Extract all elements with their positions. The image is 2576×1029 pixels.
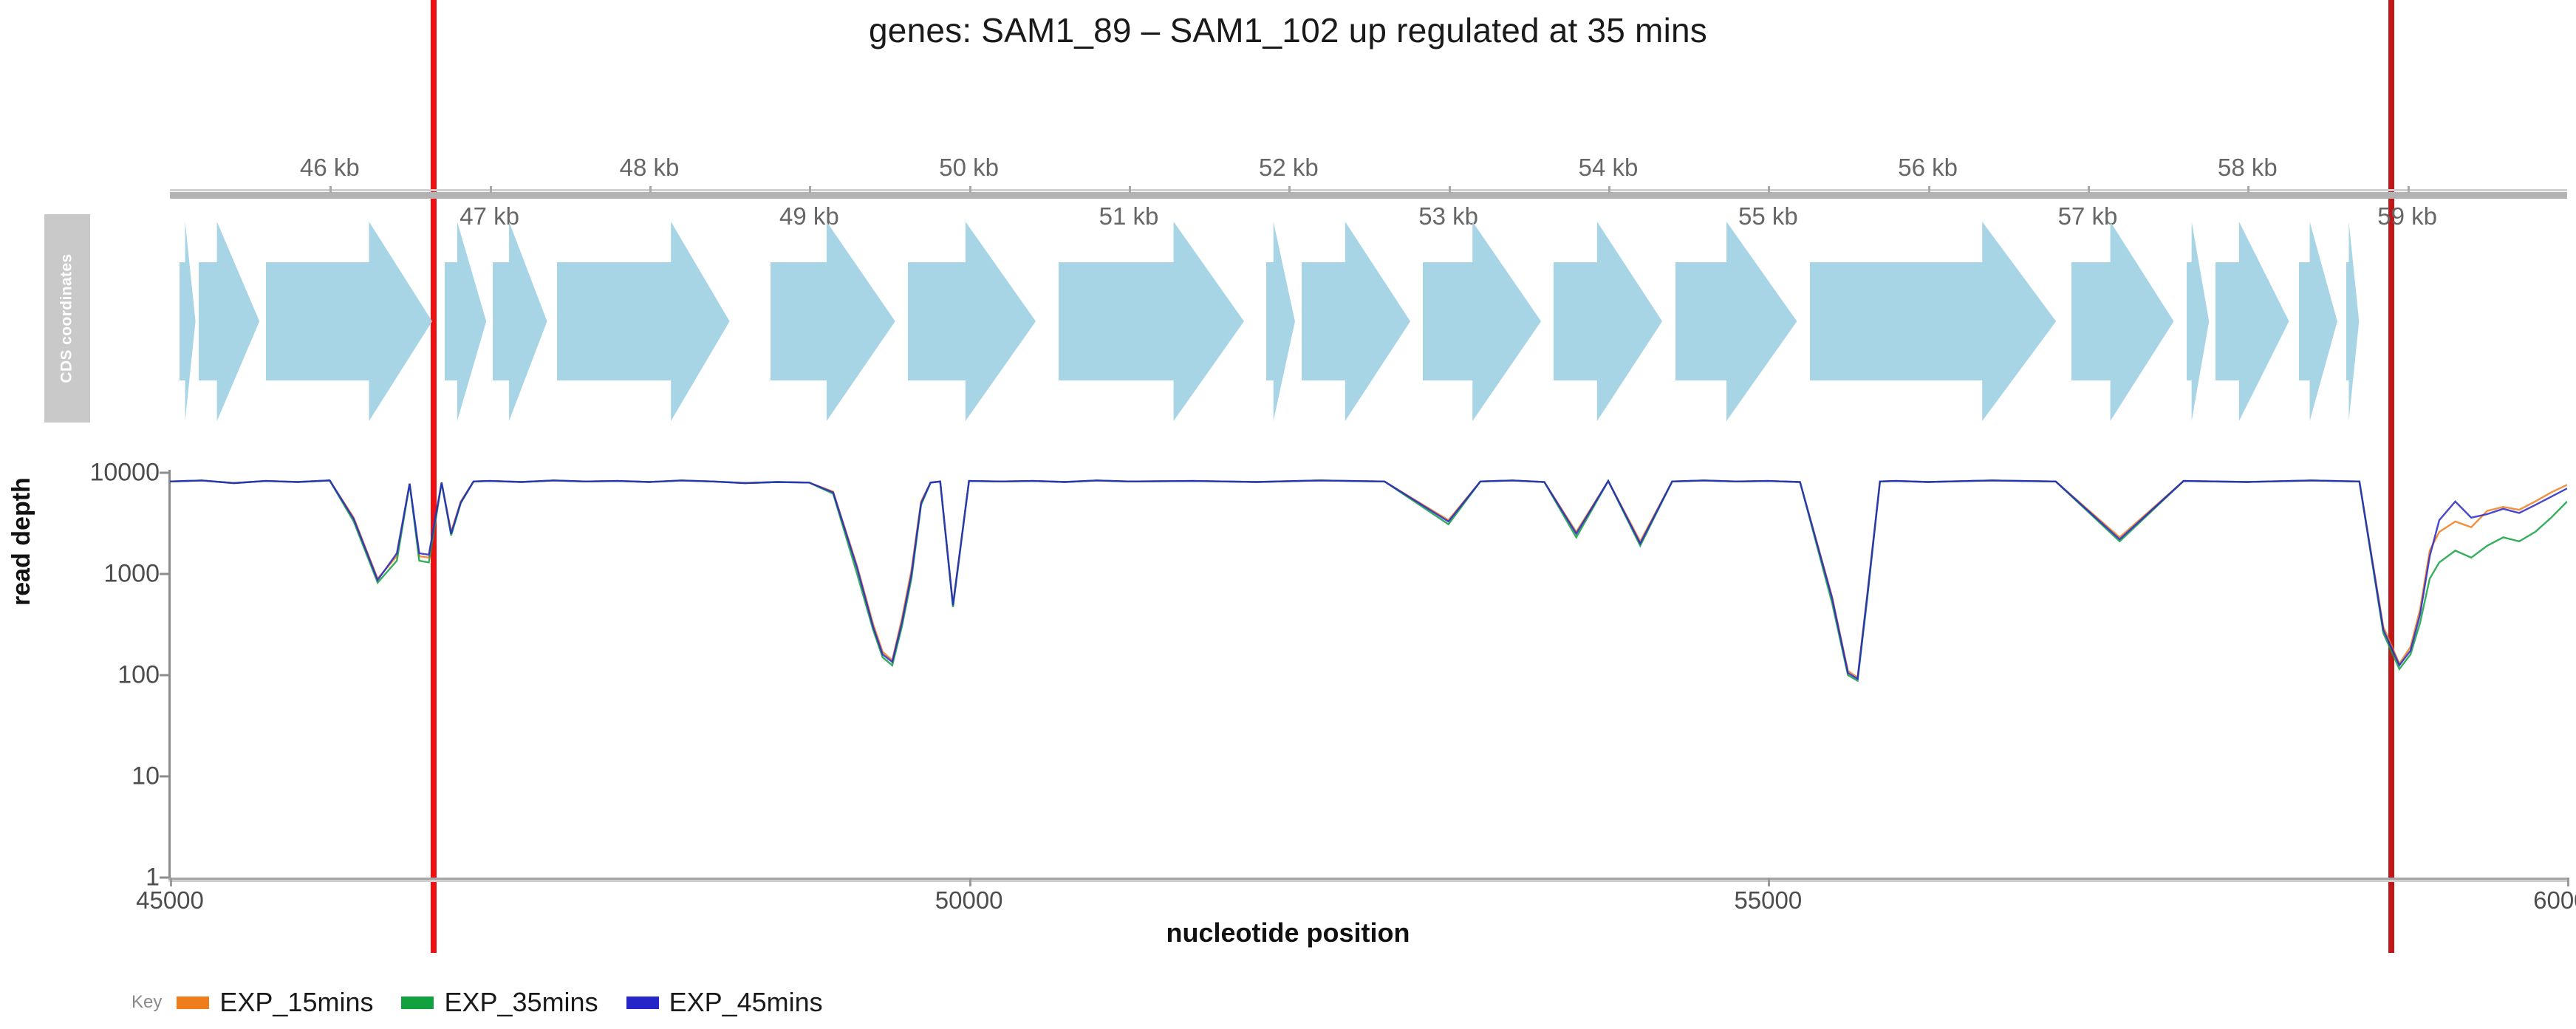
gene-arrow	[445, 222, 486, 421]
legend: Key EXP_15minsEXP_35minsEXP_45mins	[131, 987, 841, 1018]
ruler-tick	[1768, 186, 1770, 193]
ruler-label-50kb: 50 kb	[939, 154, 999, 182]
ruler-label-58kb: 58 kb	[2218, 154, 2278, 182]
x-tick-label: 50000	[935, 886, 1003, 915]
ruler-tick	[1288, 186, 1291, 193]
gene-arrow	[1423, 222, 1541, 421]
y-tick-label: 100	[117, 661, 160, 690]
figure-title: genes: SAM1_89 – SAM1_102 up regulated a…	[0, 10, 2576, 50]
gene-arrow	[771, 222, 895, 421]
x-axis-label: nucleotide position	[0, 917, 2576, 948]
ruler-tick	[1129, 186, 1131, 193]
gene-arrow	[2299, 222, 2337, 421]
y-tick-label: 10	[131, 762, 160, 791]
legend-key-label: Key	[131, 992, 162, 1013]
ruler-tick	[1449, 186, 1451, 193]
x-tick-mark	[969, 878, 971, 886]
legend-label: EXP_45mins	[669, 987, 823, 1018]
x-tick-label: 60000	[2533, 886, 2576, 915]
y-tick-mark	[160, 776, 170, 778]
depth-trace-EXP_15mins	[170, 480, 2567, 677]
gene-arrow	[1810, 222, 2056, 421]
read-depth-plot: 110100100010000	[170, 473, 2567, 878]
legend-item[interactable]: EXP_45mins	[626, 987, 823, 1018]
ruler-tick	[2408, 186, 2410, 193]
x-tick-label: 55000	[1734, 886, 1802, 915]
ruler-tick	[2088, 186, 2090, 193]
depth-trace-EXP_45mins	[170, 480, 2567, 679]
ruler-tick	[809, 186, 811, 193]
legend-swatch-EXP_35mins	[401, 996, 434, 1009]
gene-arrow	[1675, 222, 1797, 421]
legend-label: EXP_15mins	[219, 987, 373, 1018]
ruler-tick	[1608, 186, 1610, 193]
gene-arrow	[266, 222, 432, 421]
gene-arrow	[2187, 222, 2209, 421]
gene-arrow	[2071, 222, 2173, 421]
ruler-label-48kb: 48 kb	[620, 154, 680, 182]
ruler-tick	[649, 186, 652, 193]
gene-arrow	[1554, 222, 1662, 421]
y-tick-label: 1000	[103, 560, 160, 589]
read-depth-traces	[170, 473, 2567, 878]
gene-arrow	[180, 222, 196, 421]
legend-item[interactable]: EXP_35mins	[401, 987, 598, 1018]
gene-arrow	[1059, 222, 1244, 421]
cds-coordinates-label: CDS coordinates	[44, 214, 90, 423]
ruler-bar	[170, 192, 2567, 199]
legend-item[interactable]: EXP_15mins	[177, 987, 373, 1018]
x-tick-mark	[1768, 878, 1770, 886]
ruler-tick	[1928, 186, 1930, 193]
x-tick-mark	[2567, 878, 2569, 886]
kb-ruler: 46 kb48 kb50 kb52 kb54 kb56 kb58 kb47 kb…	[170, 137, 2567, 226]
gene-arrow	[908, 222, 1036, 421]
ruler-label-46kb: 46 kb	[300, 154, 360, 182]
y-tick-label: 10000	[89, 459, 160, 488]
ruler-label-54kb: 54 kb	[1579, 154, 1639, 182]
gene-arrow	[493, 222, 547, 421]
legend-label: EXP_35mins	[444, 987, 598, 1018]
ruler-tick	[490, 186, 492, 193]
ruler-label-52kb: 52 kb	[1259, 154, 1319, 182]
legend-swatch-EXP_15mins	[177, 996, 209, 1009]
gene-arrow	[2346, 222, 2359, 421]
ruler-label-56kb: 56 kb	[1898, 154, 1958, 182]
gene-arrow	[1266, 222, 1295, 421]
y-tick-mark	[160, 674, 170, 677]
x-tick-mark	[170, 878, 172, 886]
x-axis	[168, 878, 2569, 881]
gene-arrow	[2215, 222, 2289, 421]
gene-arrow	[557, 222, 730, 421]
genome-browser-figure: genes: SAM1_89 – SAM1_102 up regulated a…	[0, 0, 2576, 1029]
gene-arrow	[199, 222, 259, 421]
depth-trace-EXP_35mins	[170, 480, 2567, 680]
ruler-tick	[969, 186, 971, 193]
y-axis-label: read depth	[7, 477, 36, 606]
ruler-tick	[329, 186, 332, 193]
gene-arrow-track	[170, 222, 2576, 421]
y-tick-mark	[160, 472, 170, 474]
gene-arrow	[1302, 222, 1410, 421]
y-tick-mark	[160, 573, 170, 575]
x-tick-label: 45000	[136, 886, 204, 915]
legend-swatch-EXP_45mins	[626, 996, 659, 1009]
cds-coordinates-text: CDS coordinates	[58, 253, 76, 383]
ruler-tick	[2247, 186, 2249, 193]
